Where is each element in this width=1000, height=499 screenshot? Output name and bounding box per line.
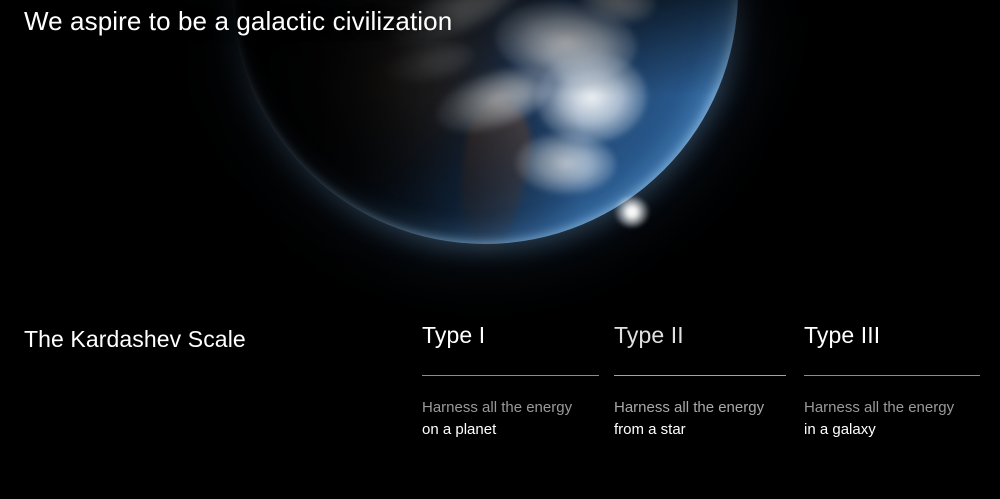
cloud-band (381, 33, 479, 92)
vignette-left (0, 0, 440, 499)
earth-landmass-south-america (448, 98, 537, 258)
column-description-line-1: Harness all the energy (804, 397, 982, 418)
column-description-line-2: on a planet (422, 419, 600, 440)
column-title: Type II (614, 322, 792, 348)
scale-column-type-2: Type II Harness all the energy from a st… (614, 322, 792, 440)
column-divider (422, 375, 599, 376)
cloud-band (491, 0, 640, 89)
column-description-line-1: Harness all the energy (614, 397, 792, 418)
scale-column-type-3: Type III Harness all the energy in a gal… (804, 322, 982, 440)
cloud-band (571, 0, 662, 30)
column-description-line-2: in a galaxy (804, 419, 982, 440)
column-divider (804, 375, 980, 376)
column-description: Harness all the energy on a planet (422, 397, 600, 440)
column-description: Harness all the energy in a galaxy (804, 397, 982, 440)
slide-canvas: We aspire to be a galactic civilization … (0, 0, 1000, 499)
page-headline: We aspire to be a galactic civilization (24, 6, 452, 37)
cloud-band (514, 131, 617, 195)
column-title: Type I (422, 322, 600, 348)
column-description-line-1: Harness all the energy (422, 397, 600, 418)
section-label-kardashev-scale: The Kardashev Scale (24, 326, 246, 353)
column-description: Harness all the energy from a star (614, 397, 792, 440)
column-description-line-2: from a star (614, 419, 792, 440)
cloud-band (533, 48, 650, 147)
sun-glint-highlight (615, 197, 649, 227)
column-title: Type III (804, 322, 982, 348)
scale-column-type-1: Type I Harness all the energy on a plane… (422, 322, 600, 440)
cloud-band (429, 55, 562, 145)
column-divider (614, 375, 786, 376)
